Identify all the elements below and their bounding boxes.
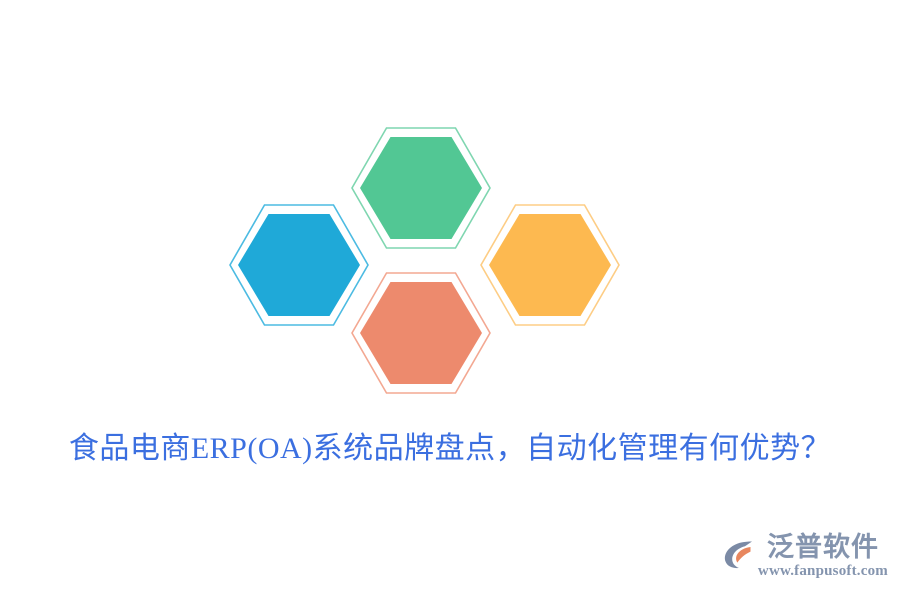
hexagon-green-fill xyxy=(360,137,482,239)
hexagon-green xyxy=(352,128,490,248)
hexagon-cluster xyxy=(0,0,900,430)
hexagon-salmon xyxy=(352,273,490,393)
watermark-logo: 泛普软件 www.fanpusoft.com xyxy=(722,532,888,588)
hexagon-blue xyxy=(230,205,368,325)
page-title: 食品电商ERP(OA)系统品牌盘点，自动化管理有何优势？ xyxy=(0,428,900,470)
watermark-url: www.fanpusoft.com xyxy=(758,562,888,580)
hexagon-salmon-fill xyxy=(360,282,482,384)
fanpu-crescent-logo-icon xyxy=(722,536,756,570)
watermark-brand-name: 泛普软件 xyxy=(767,532,879,562)
watermark-text-block: 泛普软件 www.fanpusoft.com xyxy=(758,532,888,580)
page-canvas: 食品电商ERP(OA)系统品牌盘点，自动化管理有何优势？ 泛普软件 www.fa… xyxy=(0,0,900,600)
hexagon-blue-fill xyxy=(238,214,360,316)
hexagon-cluster-svg xyxy=(0,0,900,430)
hexagon-orange xyxy=(481,205,619,325)
hexagon-orange-fill xyxy=(489,214,611,316)
